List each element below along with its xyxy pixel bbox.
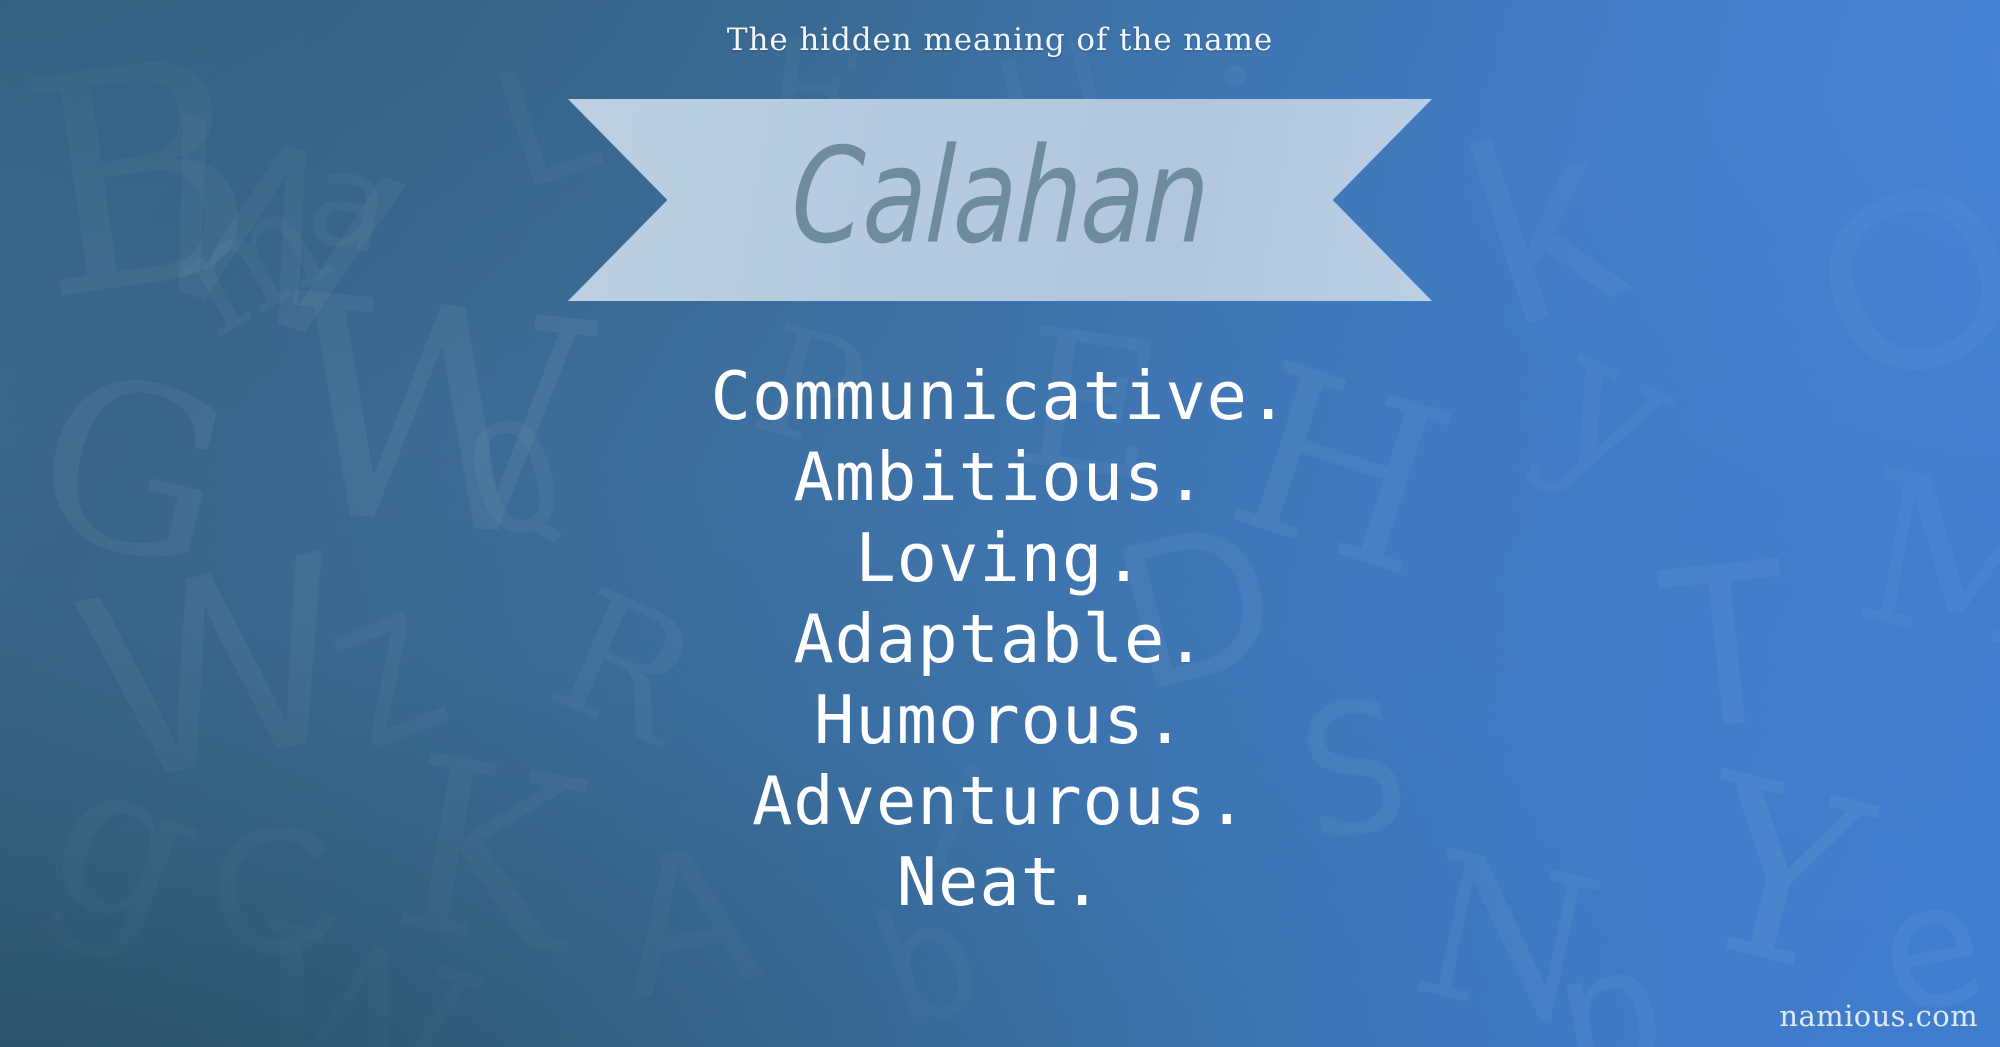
- trait-item: Adventurous.: [0, 761, 2000, 842]
- page-title: The hidden meaning of the name: [0, 22, 2000, 58]
- trait-item: Communicative.: [0, 356, 2000, 437]
- texture-letter: W: [125, 98, 411, 361]
- texture-letter: W: [220, 912, 486, 1047]
- texture-letter: m: [160, 172, 343, 347]
- trait-item: Humorous.: [0, 680, 2000, 761]
- trait-list: Communicative. Ambitious. Loving. Adapta…: [0, 356, 2000, 923]
- trait-item: Adaptable.: [0, 599, 2000, 680]
- texture-letter: a: [300, 143, 398, 261]
- name-meaning-graphic: B W m a G W W Z g C K Q R A P b E D H S …: [0, 0, 2000, 1047]
- texture-letter: p: [1548, 932, 1672, 1047]
- texture-letter: k: [1451, 105, 1639, 343]
- trait-item: Ambitious.: [0, 437, 2000, 518]
- texture-letter: B: [14, 46, 266, 314]
- name-text: Calahan: [580, 77, 1420, 323]
- trait-item: Loving.: [0, 518, 2000, 599]
- site-watermark: namious.com: [1779, 999, 1978, 1033]
- name-banner: Calahan: [568, 99, 1432, 301]
- trait-item: Neat.: [0, 842, 2000, 923]
